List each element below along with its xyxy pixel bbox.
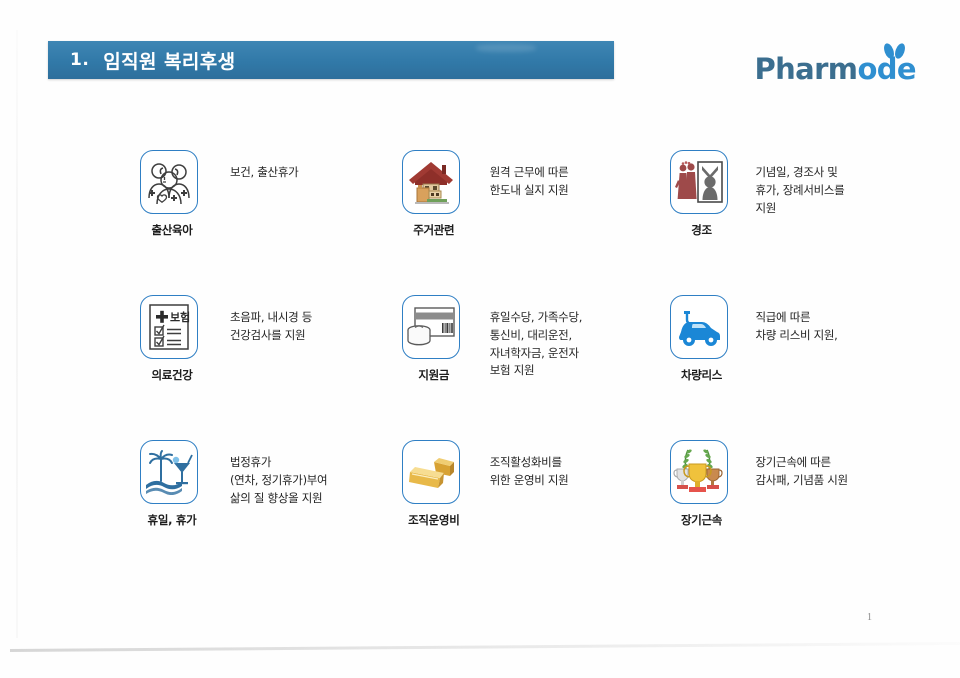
benefit-item-주거관련[interactable]: 주거관련 원격 근무에 따른 한도내 실지 지원 (392, 150, 656, 295)
palm-beach-cocktail-icon (140, 440, 198, 504)
card-coins-icon (402, 295, 460, 359)
gold-bars-icon (402, 440, 460, 504)
benefits-row: 휴일, 휴가 법정휴가 (연차, 정기휴가)부여 삶의 질 향상올 지원 (0, 440, 960, 585)
benefit-label: 조직운영비 (388, 512, 480, 528)
electric-car-icon (670, 295, 728, 359)
slide-number: 1. (70, 50, 89, 70)
benefit-description: 조직활성화비를 위한 운영비 지원 (490, 440, 569, 490)
pharmode-logo: Pharmode (754, 55, 916, 84)
benefit-description: 직급에 따른 차량 리스비 지원, (756, 295, 838, 345)
benefit-description: 장기근속에 따른 감사패, 기념품 시원 (756, 440, 848, 490)
leaf-butterfly-mark (876, 42, 912, 62)
slide-title-bar: 1. 임직원 복리후생 (48, 41, 614, 79)
benefits-row: 출산육아 보건, 출산휴가 (0, 150, 960, 295)
icon-wrap: 경조 (670, 150, 736, 214)
benefit-description: 보건, 출산휴가 (230, 150, 298, 182)
benefit-item-의료건강[interactable]: 보험 의료건강 (0, 295, 392, 440)
benefit-item-출산육아[interactable]: 출산육아 보건, 출산휴가 (0, 150, 392, 295)
trophies-icon (670, 440, 728, 504)
page-title: 임직원 복리후생 (103, 47, 235, 74)
icon-wrap: 지원금 (402, 295, 468, 359)
family-healthcare-icon (140, 150, 198, 214)
benefit-item-지원금[interactable]: 지원금 휴일수당, 가족수당, 통신비, 대리운전, 자녀학자금, 운전자 보험… (392, 295, 656, 440)
benefit-description: 법정휴가 (연차, 정기휴가)부여 삶의 질 향상올 지원 (230, 440, 327, 507)
svg-text:보험: 보험 (170, 310, 190, 324)
icon-wrap: 장기근속 (670, 440, 736, 504)
scan-edge-bottom (10, 642, 960, 652)
benefit-item-경조[interactable]: 경조 기념일, 경조사 및 휴가, 장례서비스를 지원 (656, 150, 960, 295)
icon-wrap: 보험 의료건강 (140, 295, 206, 359)
logo-wordmark: Pharmode (754, 55, 916, 84)
benefits-grid: 출산육아 보건, 출산휴가 (0, 150, 960, 585)
benefit-label: 차량리스 (656, 367, 748, 383)
benefit-item-휴일휴가[interactable]: 휴일, 휴가 법정휴가 (연차, 정기휴가)부여 삶의 질 향상올 지원 (0, 440, 392, 585)
page-number: 1 (867, 612, 872, 623)
benefit-label: 주거관련 (388, 222, 480, 238)
benefit-label: 장기근속 (656, 512, 748, 528)
icon-wrap: 휴일, 휴가 (140, 440, 206, 504)
benefit-description: 원격 근무에 따른 한도내 실지 지원 (490, 150, 569, 200)
insurance-checklist-icon: 보험 (140, 295, 198, 359)
wedding-funeral-icon (670, 150, 728, 214)
icon-wrap: 주거관련 (402, 150, 468, 214)
benefit-description: 휴일수당, 가족수당, 통신비, 대리운전, 자녀학자금, 운전자 보험 지원 (490, 295, 582, 380)
benefit-item-장기근속[interactable]: 장기근속 장기근속에 따른 감사패, 기념품 시원 (656, 440, 960, 585)
benefit-label: 지원금 (388, 367, 480, 383)
benefit-label: 경조 (656, 222, 748, 238)
benefit-item-차량리스[interactable]: 차량리스 직급에 따른 차량 리스비 지원, (656, 295, 960, 440)
logo-text-a: Pharm (754, 52, 857, 86)
benefit-label: 휴일, 휴가 (126, 512, 218, 528)
slide-page: 1. 임직원 복리후생 Pharmode (0, 0, 960, 678)
icon-wrap: 조직운영비 (402, 440, 468, 504)
benefit-label: 출산육아 (126, 222, 218, 238)
icon-wrap: 출산육아 (140, 150, 206, 214)
benefit-label: 의료건강 (126, 367, 218, 383)
house-icon (402, 150, 460, 214)
benefit-item-조직운영비[interactable]: 조직운영비 조직활성화비를 위한 운영비 지원 (392, 440, 656, 585)
benefits-row: 보험 의료건강 (0, 295, 960, 440)
icon-wrap: 차량리스 (670, 295, 736, 359)
benefit-description: 기념일, 경조사 및 휴가, 장례서비스를 지원 (756, 150, 845, 217)
benefit-description: 초음파, 내시경 등 건강검사를 지원 (230, 295, 312, 345)
